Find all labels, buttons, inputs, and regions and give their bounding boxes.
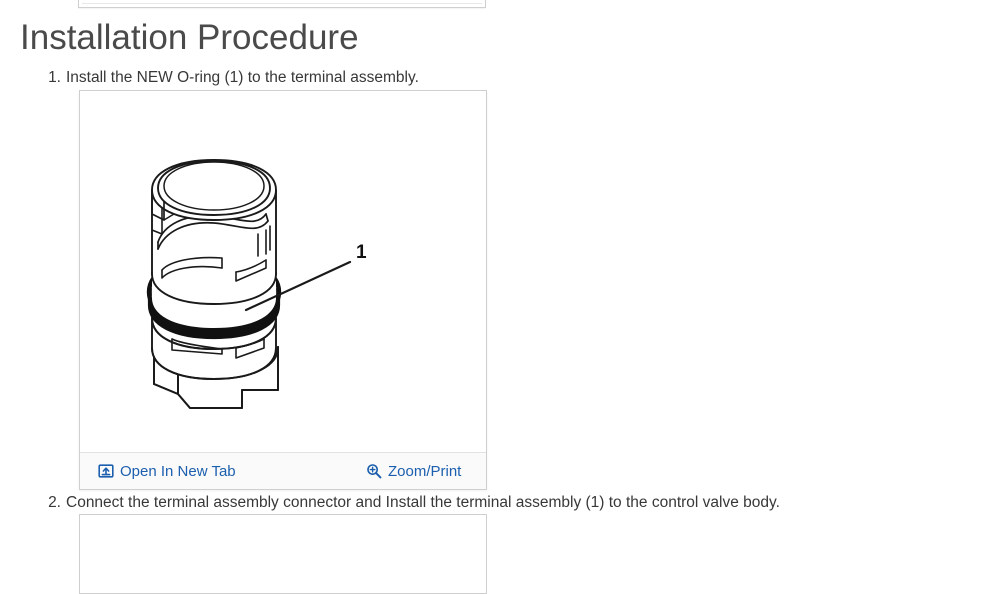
- zoom-print-link[interactable]: Zoom/Print: [366, 463, 461, 480]
- figure-container-next-partial[interactable]: [79, 514, 487, 594]
- open-in-new-tab-label: Open In New Tab: [120, 463, 236, 480]
- figure-container[interactable]: 1 Open In New Tab Z: [79, 90, 487, 490]
- callout-label-1: 1: [356, 242, 367, 263]
- figure-container-previous-partial[interactable]: [78, 0, 486, 8]
- procedure-step-2: 2.Connect the terminal assembly connecto…: [43, 493, 780, 513]
- figure-divider: [82, 3, 482, 4]
- open-in-new-tab-icon: [98, 463, 114, 479]
- procedure-step-1: 1.Install the NEW O-ring (1) to the term…: [43, 68, 419, 88]
- step-text: Install the NEW O-ring (1) to the termin…: [66, 69, 419, 86]
- open-in-new-tab-link[interactable]: Open In New Tab: [98, 463, 236, 480]
- zoom-print-label: Zoom/Print: [388, 463, 461, 480]
- figure-toolbar: Open In New Tab Zoom/Print: [80, 452, 486, 489]
- figure-illustration: 1: [80, 91, 486, 453]
- zoom-in-magnifier-icon: [366, 463, 382, 479]
- page-title: Installation Procedure: [20, 17, 359, 59]
- step-text: Connect the terminal assembly connector …: [66, 494, 780, 511]
- step-number: 2.: [43, 493, 61, 513]
- terminal-assembly-line-drawing: 1: [118, 122, 448, 422]
- step-number: 1.: [43, 68, 61, 88]
